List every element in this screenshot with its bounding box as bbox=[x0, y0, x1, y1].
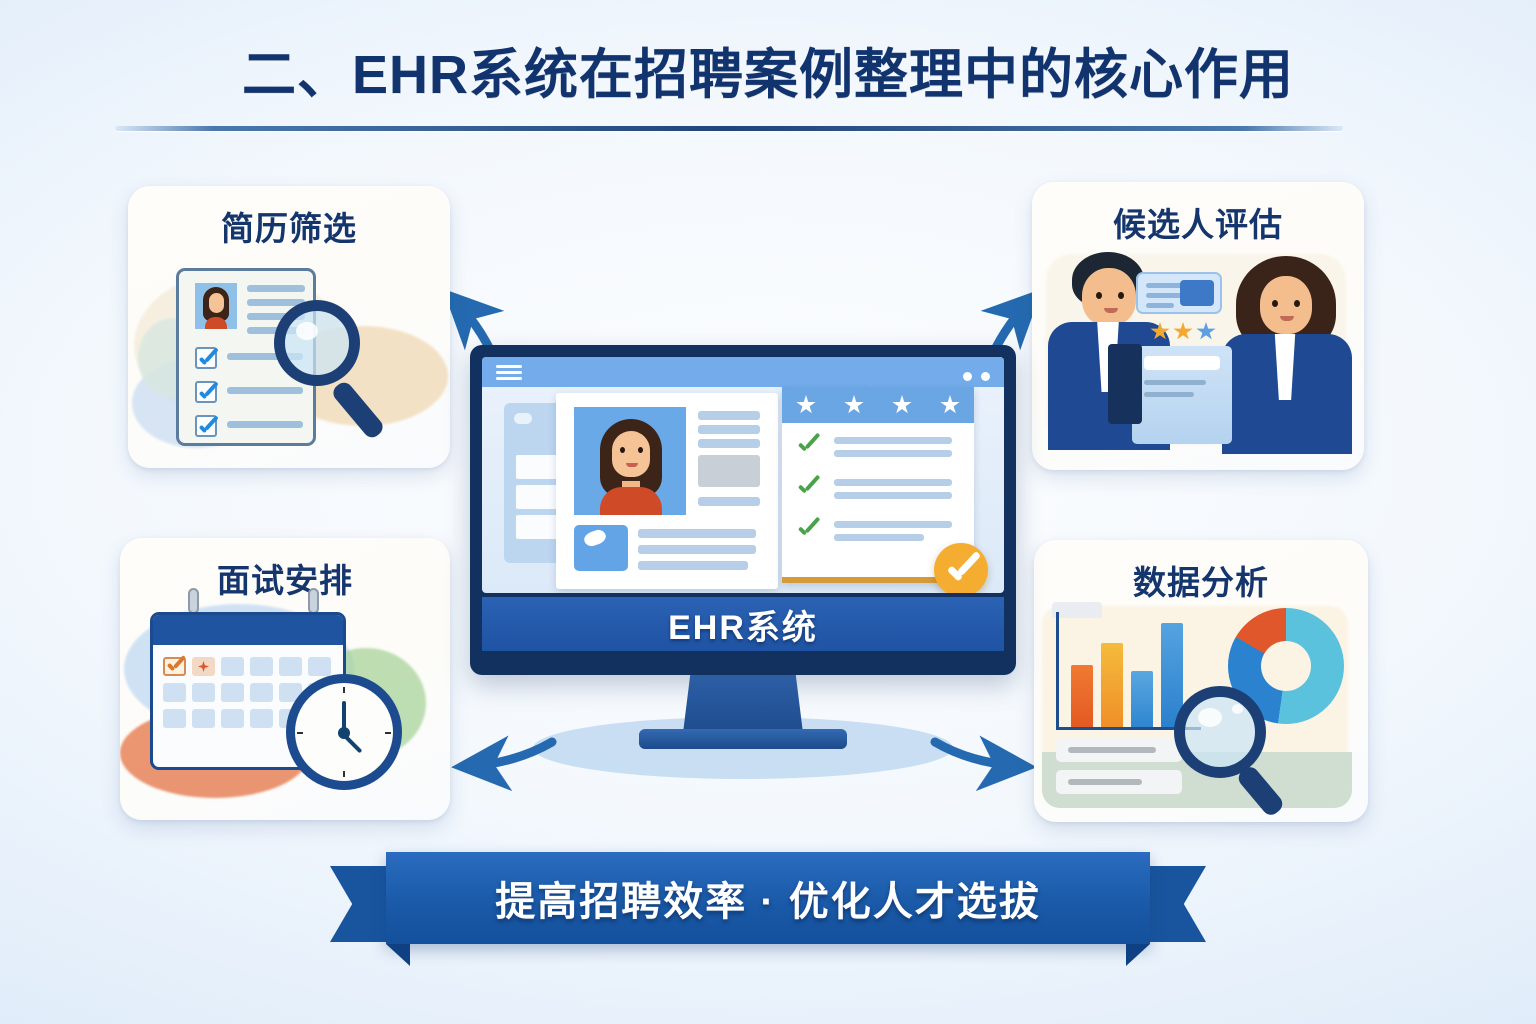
candidate-profile-card[interactable] bbox=[556, 393, 778, 589]
ribbon-fold-right bbox=[1126, 944, 1150, 966]
arrow-to-schedule bbox=[470, 742, 552, 766]
window-controls[interactable] bbox=[954, 368, 990, 386]
monitor-stand-neck bbox=[683, 675, 803, 733]
ehr-system-monitor: EHR系统 bbox=[470, 345, 1016, 675]
callout-notch bbox=[860, 377, 880, 387]
sidebar-handle bbox=[514, 413, 532, 424]
bar-pie-chart-magnifier-icon bbox=[1034, 602, 1368, 814]
slide-canvas: 二、EHR系统在招聘案例整理中的核心作用 简历筛选 bbox=[0, 0, 1536, 1024]
two-people-rating-icon bbox=[1032, 244, 1364, 462]
star-icon bbox=[844, 395, 864, 415]
ehr-system-label: EHR系统 bbox=[668, 600, 818, 649]
check-icon bbox=[796, 475, 822, 501]
star-icon bbox=[892, 395, 912, 415]
id-card-icon bbox=[1136, 272, 1222, 314]
feature-card-analytics[interactable]: 数据分析 bbox=[1034, 540, 1368, 822]
title-divider bbox=[115, 126, 1343, 131]
page-header: 二、EHR系统在招聘案例整理中的核心作用 bbox=[0, 46, 1536, 105]
feature-card-schedule[interactable]: 面试安排 bbox=[120, 538, 450, 820]
feature-card-analytics-label: 数据分析 bbox=[1034, 556, 1368, 604]
ribbon-fold-left bbox=[386, 944, 410, 966]
hamburger-menu-icon[interactable] bbox=[496, 365, 522, 380]
ribbon-body: 提高招聘效率 · 优化人才选拔 bbox=[386, 852, 1150, 944]
star-icon bbox=[796, 395, 816, 415]
clock-icon bbox=[286, 674, 402, 790]
feature-card-evaluation[interactable]: 候选人评估 bbox=[1032, 182, 1364, 470]
ribbon-text: 提高招聘效率 · 优化人才选拔 bbox=[495, 869, 1041, 927]
avatar bbox=[574, 407, 686, 515]
check-icon bbox=[796, 433, 822, 459]
attachment-thumbnail bbox=[574, 525, 628, 571]
feature-card-schedule-label: 面试安排 bbox=[120, 554, 450, 602]
app-titlebar bbox=[482, 357, 1004, 387]
arrow-to-analytics bbox=[935, 742, 1018, 766]
feature-card-evaluation-label: 候选人评估 bbox=[1032, 198, 1364, 246]
document-magnifier-icon bbox=[128, 248, 450, 460]
monitor-screen[interactable] bbox=[482, 357, 1004, 593]
monitor-footer: EHR系统 bbox=[482, 597, 1004, 651]
avatar bbox=[1220, 254, 1356, 450]
check-icon bbox=[796, 517, 822, 543]
bottom-ribbon-banner: 提高招聘效率 · 优化人才选拔 bbox=[330, 852, 1206, 956]
feature-card-resume[interactable]: 简历筛选 bbox=[128, 186, 450, 468]
star-rating bbox=[782, 387, 974, 423]
calendar-clock-icon bbox=[120, 600, 450, 812]
evaluation-result-card[interactable] bbox=[782, 387, 974, 583]
monitor-stand-base bbox=[639, 729, 847, 749]
feature-card-resume-label: 简历筛选 bbox=[128, 202, 450, 250]
orange-check-badge bbox=[934, 543, 988, 593]
page-title: 二、EHR系统在招聘案例整理中的核心作用 bbox=[0, 46, 1536, 105]
star-icon bbox=[940, 395, 960, 415]
star-rating bbox=[1150, 322, 1216, 342]
